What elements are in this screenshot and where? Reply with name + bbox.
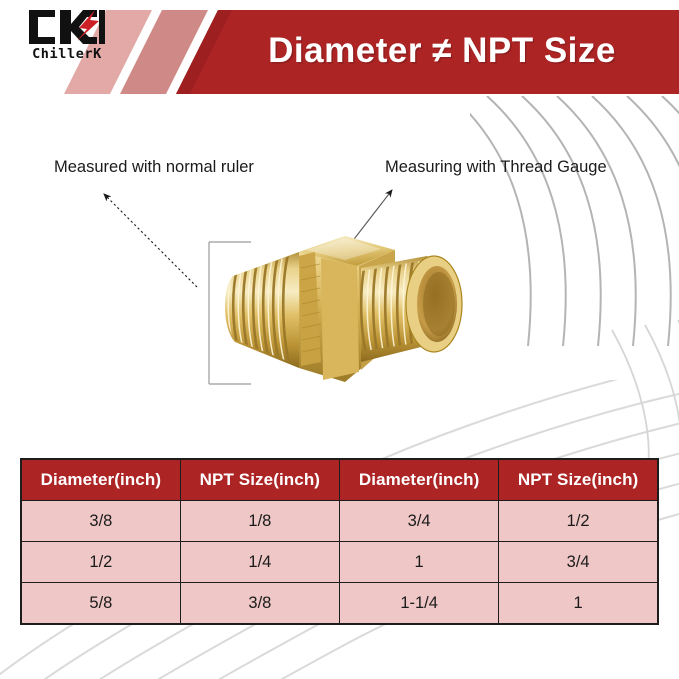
cell-diameter-2: 1-1/4 xyxy=(340,583,499,625)
leader-line-left xyxy=(104,194,197,287)
cell-npt-2: 1 xyxy=(499,583,658,625)
cell-diameter-1: 1/2 xyxy=(21,542,180,583)
diameter-npt-size-table: Diameter(inch) NPT Size(inch) Diameter(i… xyxy=(20,458,659,625)
cell-npt-1: 1/4 xyxy=(180,542,339,583)
column-header-npt-1: NPT Size(inch) xyxy=(180,459,339,501)
table-row: 5/8 3/8 1-1/4 1 xyxy=(21,583,658,625)
table-header-row: Diameter(inch) NPT Size(inch) Diameter(i… xyxy=(21,459,658,501)
column-header-npt-2: NPT Size(inch) xyxy=(499,459,658,501)
annotation-left-label: Measured with normal ruler xyxy=(54,158,254,177)
fitting-bore-inner-shadow xyxy=(423,272,455,336)
table-row: 3/8 1/8 3/4 1/2 xyxy=(21,501,658,542)
page-title: Diameter ≠ NPT Size xyxy=(212,23,672,78)
fitting-hex-front-facet xyxy=(321,258,359,380)
cell-diameter-2: 1 xyxy=(340,542,499,583)
table-row: 1/2 1/4 1 3/4 xyxy=(21,542,658,583)
column-header-diameter-2: Diameter(inch) xyxy=(340,459,499,501)
cell-npt-1: 1/8 xyxy=(180,501,339,542)
cell-diameter-1: 3/8 xyxy=(21,501,180,542)
cell-npt-1: 3/8 xyxy=(180,583,339,625)
cell-npt-2: 1/2 xyxy=(499,501,658,542)
annotation-right-label: Measuring with Thread Gauge xyxy=(385,158,607,177)
cell-diameter-1: 5/8 xyxy=(21,583,180,625)
brand-logo: ChillerK xyxy=(22,8,112,70)
product-infographic: Diameter ≠ NPT Size ChillerK Measured wi… xyxy=(0,0,679,679)
column-header-diameter-1: Diameter(inch) xyxy=(21,459,180,501)
ck-monogram-icon xyxy=(27,8,107,46)
brass-fitting-image xyxy=(195,212,495,402)
brand-wordmark: ChillerK xyxy=(22,46,112,62)
cell-diameter-2: 3/4 xyxy=(340,501,499,542)
cell-npt-2: 3/4 xyxy=(499,542,658,583)
